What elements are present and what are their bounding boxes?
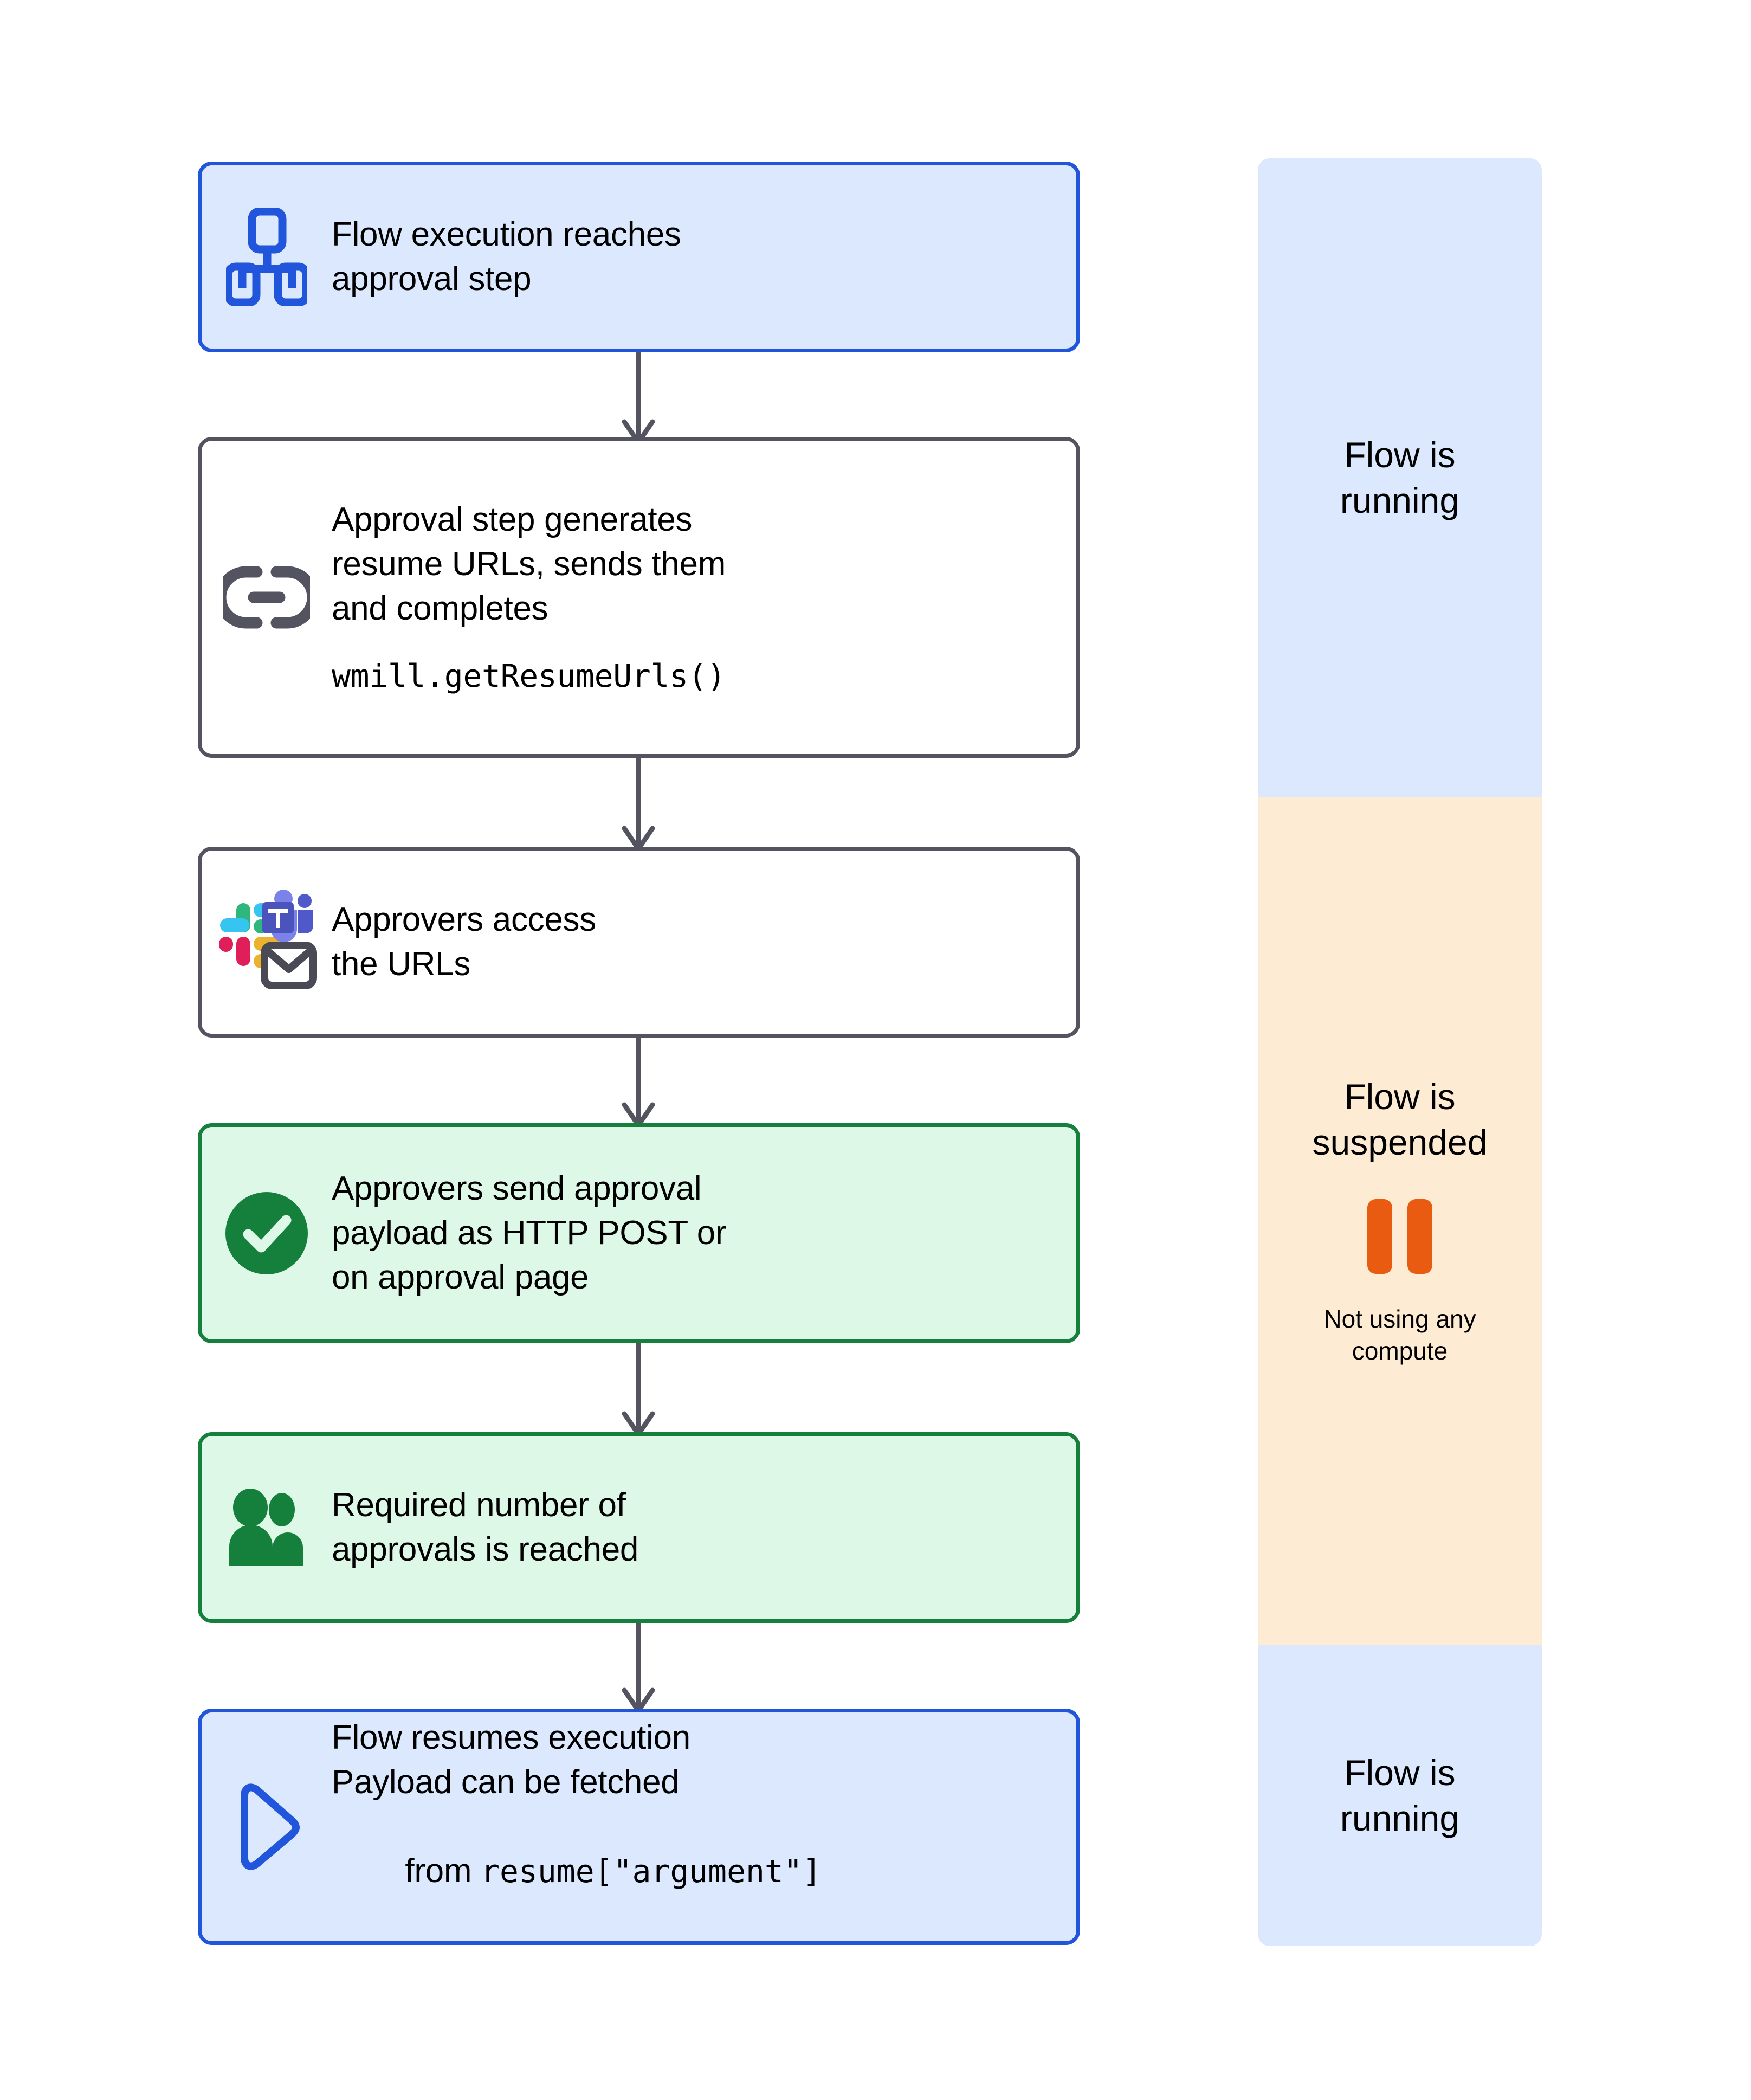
microsoft-teams-icon — [262, 890, 313, 942]
node-line: Required number of — [332, 1483, 1055, 1528]
node-line: approvals is reached — [332, 1528, 1055, 1572]
node-line: Approvers access — [332, 898, 1055, 942]
email-icon — [264, 945, 313, 985]
node-line-code: from resume["argument"] — [332, 1805, 1055, 1937]
node-line: the URLs — [332, 942, 1055, 987]
pause-bar-right — [1407, 1199, 1432, 1274]
node-label: Approval step generates resume URLs, sen… — [332, 498, 1076, 697]
node-code: wmill.getResumeUrls() — [332, 655, 1055, 697]
status-label: Flow is running — [1340, 432, 1459, 524]
status-segment-running-top: Flow is running — [1258, 158, 1542, 797]
node-line: and completes — [332, 587, 1055, 631]
node-line: approval step — [332, 257, 1055, 301]
node-code-prefix: from — [405, 1852, 481, 1890]
status-segment-running-bottom: Flow is running — [1258, 1645, 1542, 1946]
link-icon — [202, 565, 332, 629]
check-circle-icon — [202, 1189, 332, 1278]
node-approvals-reached[interactable]: Required number of approvals is reached — [198, 1432, 1080, 1623]
node-label: Required number of approvals is reached — [332, 1483, 1076, 1572]
node-send-payload[interactable]: Approvers send approval payload as HTTP … — [198, 1123, 1080, 1343]
users-icon — [202, 1487, 332, 1568]
status-label: Flow is suspended — [1313, 1074, 1488, 1165]
workflow-hierarchy-icon — [202, 208, 332, 306]
node-label: Approvers access the URLs — [332, 898, 1076, 987]
node-line: on approval page — [332, 1255, 1055, 1300]
node-line: Approval step generates — [332, 498, 1055, 542]
diagram-canvas: Flow execution reaches approval step App… — [0, 0, 1751, 2100]
node-reach-approval[interactable]: Flow execution reaches approval step — [198, 162, 1080, 352]
node-code: resume["argument"] — [481, 1853, 822, 1890]
node-flow-resumes[interactable]: Flow resumes execution Payload can be fe… — [198, 1709, 1080, 1945]
status-label: Flow is running — [1340, 1750, 1459, 1841]
play-icon — [202, 1782, 332, 1872]
slack-teams-email-icon — [202, 888, 332, 996]
node-line: Approvers send approval — [332, 1167, 1055, 1211]
node-label: Approvers send approval payload as HTTP … — [332, 1167, 1076, 1299]
connector-arrow-5 — [611, 1620, 665, 1715]
node-line: Flow resumes execution — [332, 1716, 1055, 1760]
connector-arrow-4 — [611, 1343, 665, 1439]
flow-status-rail: Flow is running Flow is suspended Not us… — [1258, 158, 1542, 1946]
node-line: resume URLs, sends them — [332, 542, 1055, 587]
connector-arrow-2 — [611, 758, 665, 853]
connector-arrow-3 — [611, 1034, 665, 1130]
connector-arrow-1 — [611, 351, 665, 447]
node-line: Payload can be fetched — [332, 1760, 1055, 1805]
node-line: payload as HTTP POST or — [332, 1211, 1055, 1255]
status-segment-suspended: Flow is suspended Not using any compute — [1258, 797, 1542, 1645]
pause-bar-left — [1367, 1199, 1392, 1274]
node-approvers-access[interactable]: Approvers access the URLs — [198, 847, 1080, 1038]
node-generate-urls[interactable]: Approval step generates resume URLs, sen… — [198, 437, 1080, 758]
status-sublabel: Not using any compute — [1323, 1303, 1476, 1368]
node-line: Flow execution reaches — [332, 212, 1055, 257]
node-label: Flow execution reaches approval step — [332, 212, 1076, 301]
node-label: Flow resumes execution Payload can be fe… — [332, 1716, 1076, 1937]
pause-icon — [1367, 1199, 1432, 1274]
